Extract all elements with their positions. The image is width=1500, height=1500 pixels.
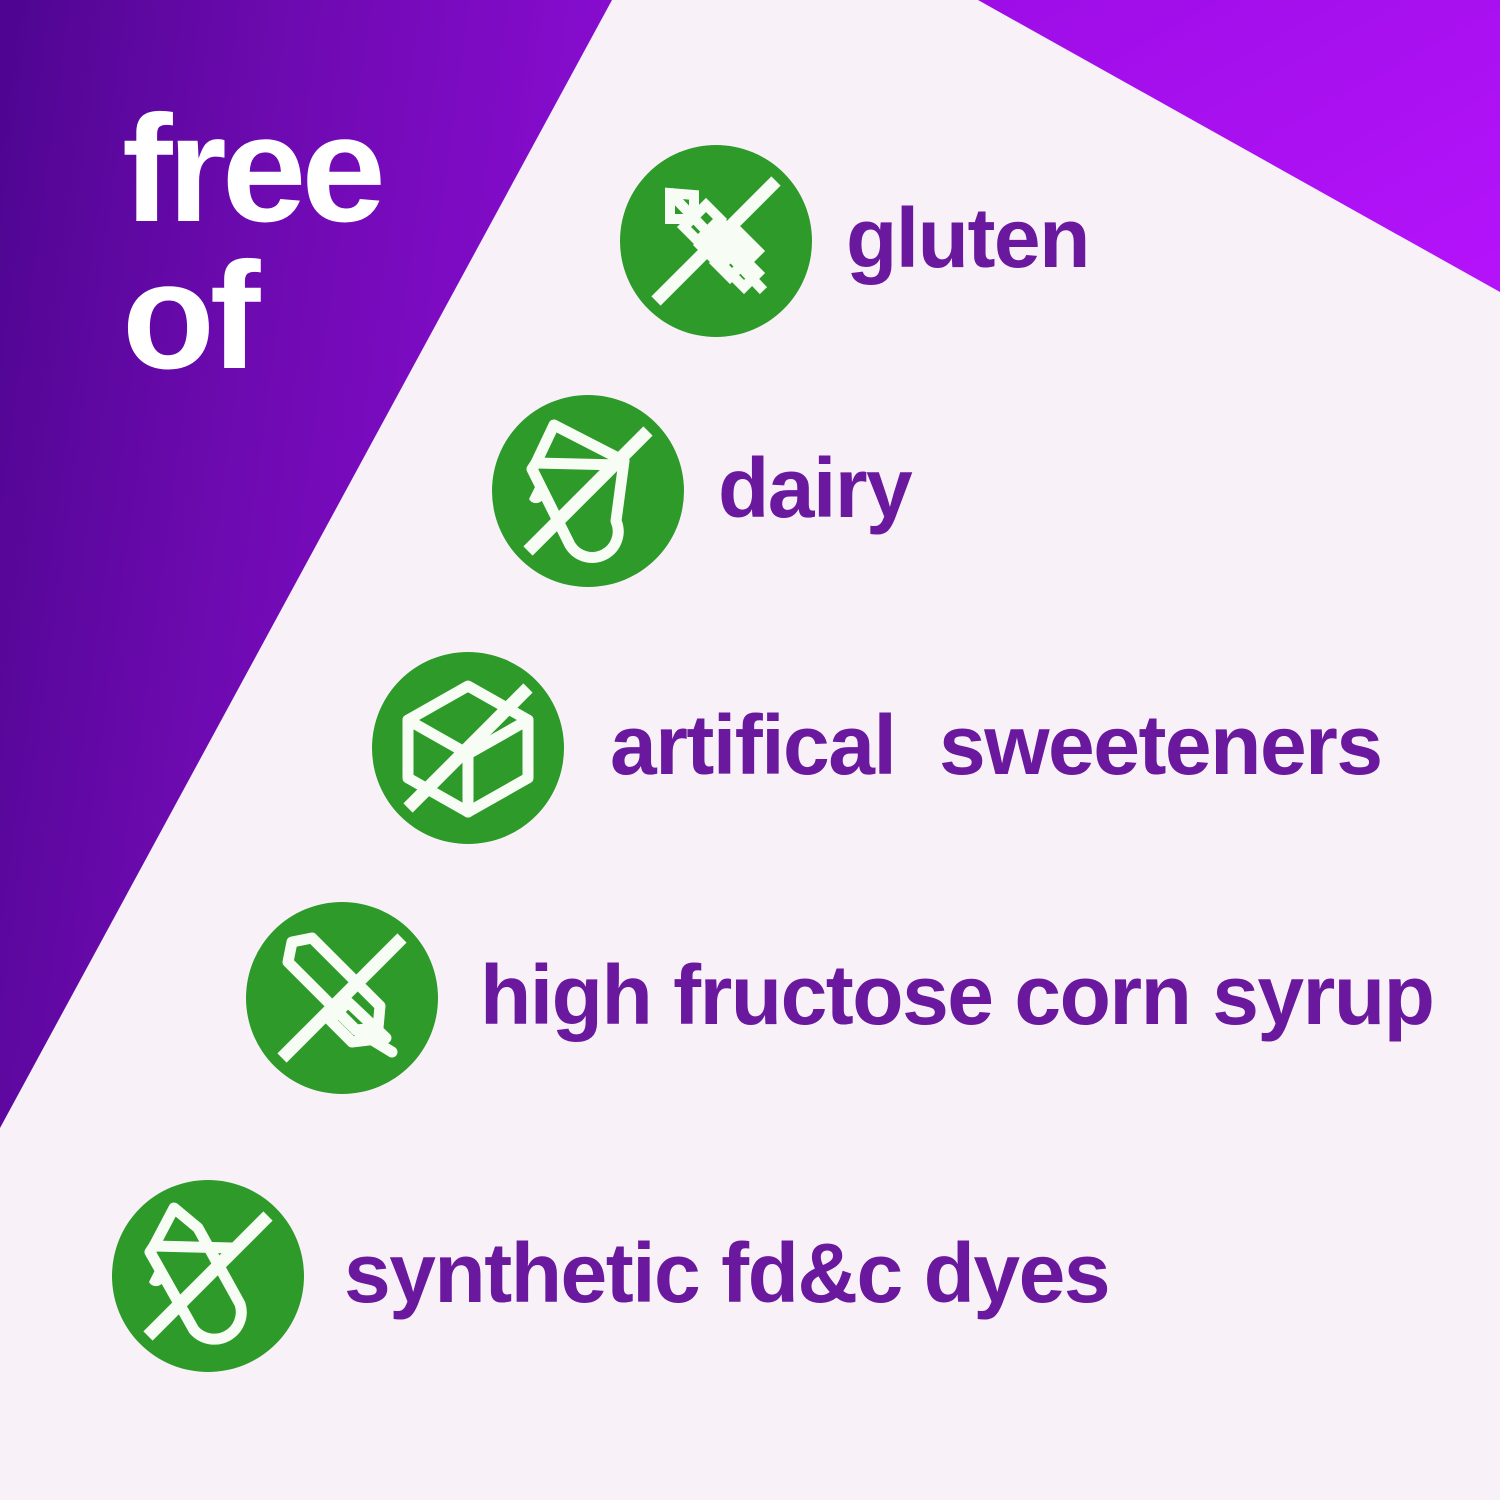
item-label: artifical sweeteners (610, 703, 1382, 793)
headline-line-1: free (122, 96, 592, 243)
no-corn-icon (246, 902, 438, 1094)
no-milk-carton-icon (492, 395, 684, 587)
item-label: high fructose corn syrup (480, 953, 1433, 1043)
headline-line-2: of (122, 243, 592, 390)
free-of-item-sweeteners: artifical sweeteners (372, 652, 1382, 844)
item-label: dairy (718, 446, 911, 536)
free-of-item-gluten: gluten (620, 145, 1089, 337)
free-of-item-dyes: synthetic fd&c dyes (112, 1180, 1109, 1372)
no-test-tube-icon (112, 1180, 304, 1372)
item-label: gluten (846, 196, 1089, 286)
no-wheat-icon (620, 145, 812, 337)
free-of-item-dairy: dairy (492, 395, 911, 587)
headline: free of (122, 96, 592, 391)
no-sugar-cube-icon (372, 652, 564, 844)
free-of-poster: free of (0, 0, 1500, 1500)
free-of-item-hfcs: high fructose corn syrup (246, 902, 1433, 1094)
item-label: synthetic fd&c dyes (344, 1231, 1109, 1321)
